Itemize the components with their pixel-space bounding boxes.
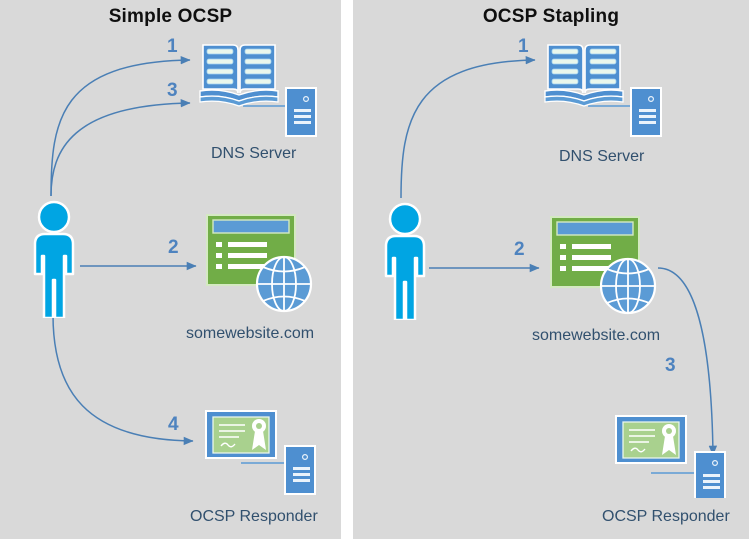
arrow-step-3 [51, 103, 190, 196]
website-icon [205, 213, 315, 313]
ocsp-responder-icon [203, 408, 323, 498]
step-number-3: 3 [167, 80, 178, 102]
ocsp-responder-icon [613, 408, 733, 498]
arrow-step-1 [401, 60, 535, 198]
globe-icon [601, 259, 655, 313]
panel-title-left: Simple OCSP [0, 6, 341, 28]
client-person-icon [369, 200, 441, 320]
step-number-1: 1 [167, 36, 178, 58]
step-number-1: 1 [518, 36, 529, 58]
diagram-canvas: Simple OCSP 1 3 2 4 [0, 0, 749, 539]
ocsp-responder-label: OCSP Responder [602, 508, 730, 526]
panel-ocsp-stapling: OCSP Stapling 1 2 3 [353, 0, 749, 539]
globe-icon [257, 257, 311, 311]
panel-title-right: OCSP Stapling [353, 6, 749, 28]
client-person-icon [18, 198, 90, 318]
dns-server-label: DNS Server [211, 145, 296, 163]
dns-server-icon [198, 38, 323, 138]
ocsp-responder-label: OCSP Responder [190, 508, 318, 526]
website-icon [549, 215, 659, 315]
website-label: somewebsite.com [532, 327, 660, 345]
panel-simple-ocsp: Simple OCSP 1 3 2 4 [0, 0, 341, 539]
website-label: somewebsite.com [186, 325, 314, 343]
step-number-3: 3 [665, 355, 676, 377]
dns-server-icon [543, 38, 668, 138]
step-number-2: 2 [168, 237, 179, 259]
dns-server-label: DNS Server [559, 148, 644, 166]
step-number-2: 2 [514, 239, 525, 261]
step-number-4: 4 [168, 414, 179, 436]
